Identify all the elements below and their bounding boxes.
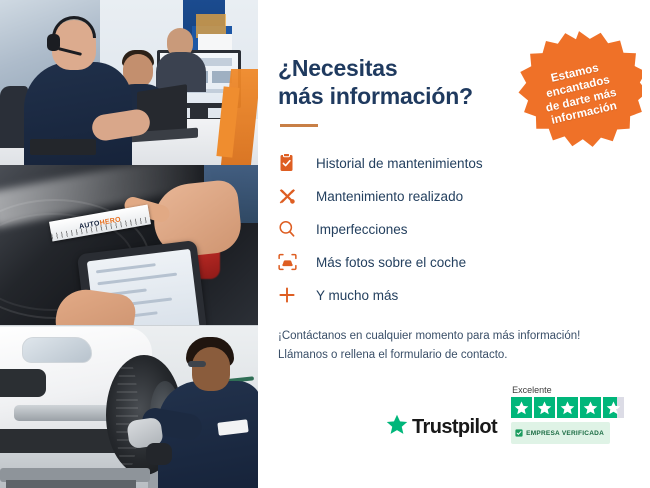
feature-item-maintenance-done: Mantenimiento realizado	[278, 180, 650, 212]
support-badge: Estamos encantados de darte más informac…	[516, 28, 642, 154]
photo-collage-column: AUTOHERO	[0, 0, 258, 488]
content-panel: ¿Necesitas más información? Historial de…	[258, 0, 650, 488]
trustpilot-logo[interactable]: Trustpilot	[386, 414, 497, 444]
photo-mechanic-glasses	[188, 361, 206, 367]
verified-check-icon	[515, 424, 523, 442]
rating-star-filled	[511, 397, 532, 418]
feature-item-imperfections: Imperfecciones	[278, 213, 650, 245]
tools-cross-icon	[278, 185, 304, 207]
page-title-line-2: más información?	[278, 83, 473, 109]
feature-label: Más fotos sobre el coche	[316, 255, 466, 270]
car-inspection-ruler-photo: AUTOHERO	[0, 165, 258, 325]
page-title-line-1: ¿Necesitas	[278, 55, 397, 81]
photo-wall-line	[0, 325, 258, 326]
contact-paragraph-line-2: Llámanos o rellena el formulario de cont…	[278, 349, 508, 361]
contact-paragraph: ¡Contáctanos en cualquier momento para m…	[278, 327, 650, 365]
rating-star-filled	[580, 397, 601, 418]
trustpilot-rating-block: Excelente	[511, 385, 624, 444]
photo-car-headlight	[22, 337, 92, 363]
feature-list: Historial de mantenimientos M	[278, 147, 650, 311]
clipboard-check-icon	[278, 152, 304, 174]
rating-star-partial	[603, 397, 624, 418]
verified-company-label: EMPRESA VERIFICADA	[526, 430, 604, 437]
photo-mechanic-head	[192, 347, 230, 391]
feature-label: Y mucho más	[316, 288, 398, 303]
magnifier-icon	[278, 218, 304, 240]
call-center-agents-photo	[0, 0, 258, 165]
trustpilot-star-icon	[386, 414, 408, 440]
feature-item-much-more: Y mucho más	[278, 279, 650, 311]
rating-star-filled	[557, 397, 578, 418]
feature-item-more-photos: Más fotos sobre el coche	[278, 246, 650, 278]
photo-tablet-line	[96, 263, 156, 273]
photo-car-lift-base	[6, 480, 136, 488]
trustpilot-widget[interactable]: Trustpilot Excelente	[386, 385, 624, 444]
photo-tyre-tread	[116, 359, 138, 471]
plus-icon	[278, 284, 304, 306]
rating-star-filled	[534, 397, 555, 418]
trustpilot-star-rating	[511, 397, 624, 418]
car-scan-icon	[278, 251, 304, 273]
trustpilot-wordmark: Trustpilot	[412, 416, 497, 439]
feature-label: Mantenimiento realizado	[316, 189, 463, 204]
title-divider-rule	[280, 124, 318, 127]
contact-information-poster: AUTOHERO	[0, 0, 650, 488]
photo-tablet-line	[97, 273, 177, 286]
feature-label: Historial de mantenimientos	[316, 156, 483, 171]
photo-car-grille	[0, 369, 46, 397]
verified-company-badge: EMPRESA VERIFICADA	[511, 422, 610, 444]
trustpilot-rating-label: Excelente	[512, 385, 552, 395]
photo-mechanic-glove-2	[146, 443, 172, 465]
feature-label: Imperfecciones	[316, 222, 408, 237]
mechanic-wheel-photo	[0, 325, 258, 488]
contact-paragraph-line-1: ¡Contáctanos en cualquier momento para m…	[278, 330, 580, 342]
photo-desk-mat	[30, 139, 96, 155]
